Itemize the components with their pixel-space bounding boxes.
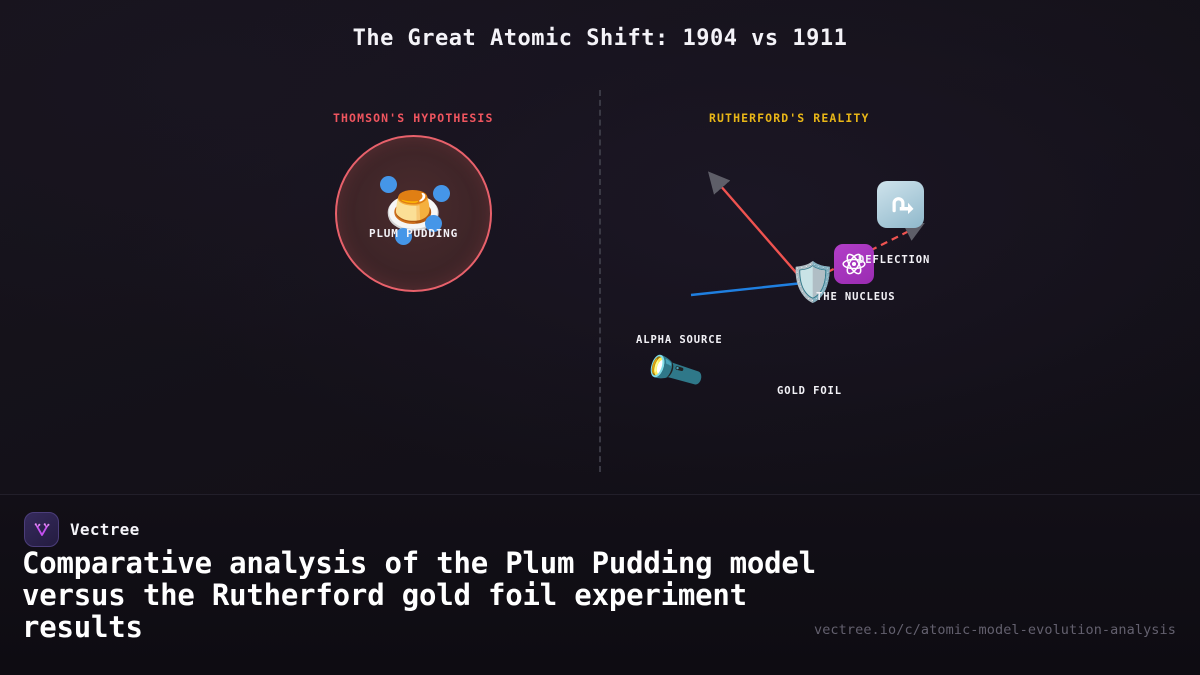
page-title: The Great Atomic Shift: 1904 vs 1911 <box>0 26 1200 51</box>
footer-url: vectree.io/c/atomic-model-evolution-anal… <box>814 622 1176 638</box>
gold-foil-label: GOLD FOIL <box>777 385 842 397</box>
brand-name: Vectree <box>70 520 140 539</box>
slide-canvas: The Great Atomic Shift: 1904 vs 1911 THO… <box>0 0 1200 675</box>
vectree-glyph <box>32 520 52 540</box>
footer-caption: Comparative analysis of the Plum Pudding… <box>22 547 822 643</box>
footer: Vectree Comparative analysis of the Plum… <box>0 494 1200 675</box>
redo-arrow-badge <box>877 181 924 228</box>
comparison-canvas: THOMSON'S HYPOTHESIS 🍮 PLUM PUDDING RUTH… <box>0 80 1200 480</box>
scattering-trajectories <box>0 80 1200 480</box>
deflection-label: DEFLECTION <box>858 254 930 266</box>
alpha-source-label: ALPHA SOURCE <box>636 334 723 346</box>
alpha-beam-line <box>691 283 803 295</box>
nucleus-label: THE NUCLEUS <box>816 291 895 303</box>
vectree-logo-icon <box>24 512 59 547</box>
brand-row: Vectree <box>24 512 140 547</box>
redo-arrow-icon <box>886 190 916 220</box>
